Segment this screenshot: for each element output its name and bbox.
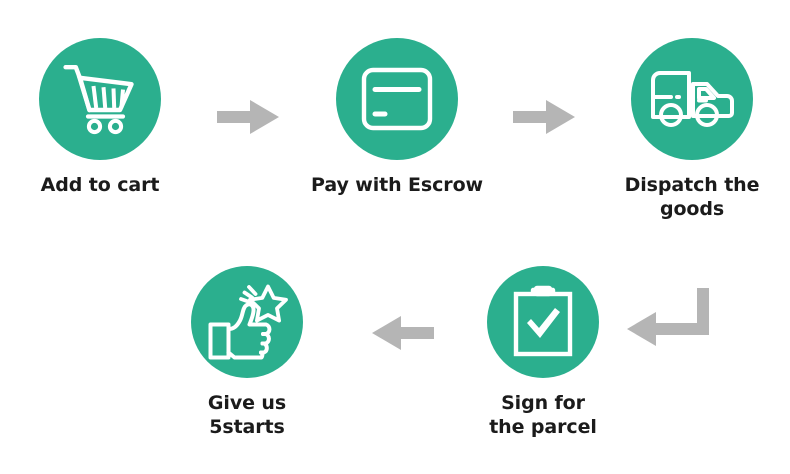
step-pay-escrow-label: Pay with Escrow [302, 173, 492, 197]
arrow-elbow-dispatch-to-sign [627, 288, 709, 350]
step-sign-parcel[interactable]: Sign for the parcel [453, 266, 633, 439]
arrow-right-cart-to-pay [217, 100, 279, 134]
step-pay-escrow[interactable]: Pay with Escrow [306, 38, 488, 197]
step-dispatch-goods-label: Dispatch the goods [597, 173, 787, 221]
shopping-cart-icon [63, 64, 137, 134]
step-give-rating-label: Give us 5starts [152, 391, 342, 439]
step-sign-parcel-label: Sign for the parcel [448, 391, 638, 439]
step-give-rating[interactable]: Give us 5starts [157, 266, 337, 439]
step-give-rating-circle[interactable] [191, 266, 303, 378]
step-add-to-cart-circle[interactable] [39, 38, 161, 160]
step-pay-escrow-circle[interactable] [336, 38, 458, 160]
arrow-right-pay-to-dispatch [513, 100, 575, 134]
step-add-to-cart-label: Add to cart [5, 173, 195, 197]
thumbs-up-star-icon [208, 284, 286, 360]
clipboard-check-icon [513, 287, 573, 357]
step-dispatch-goods[interactable]: Dispatch the goods [601, 38, 783, 221]
step-add-to-cart[interactable]: Add to cart [9, 38, 191, 197]
credit-card-icon [361, 67, 433, 131]
process-flow-diagram: Add to cart Pay with Escrow [0, 0, 790, 474]
step-sign-parcel-circle[interactable] [487, 266, 599, 378]
delivery-truck-icon [650, 67, 734, 131]
arrow-left-sign-to-rating [372, 316, 434, 350]
step-dispatch-goods-circle[interactable] [631, 38, 753, 160]
